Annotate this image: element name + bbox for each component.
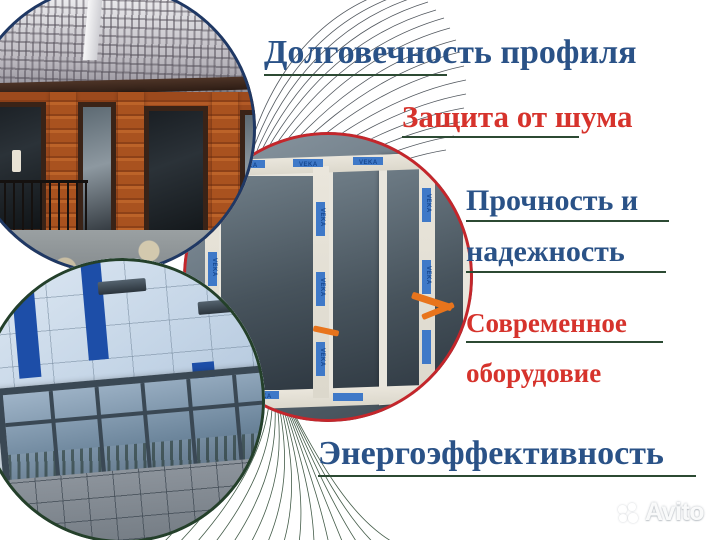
headline-underline [264, 74, 447, 76]
headline-strength: Прочность и [466, 186, 669, 222]
house-photo [0, 0, 256, 274]
facade-transom [5, 399, 265, 427]
headline-modern-equipment: Современное [466, 310, 663, 343]
house-window [240, 110, 256, 230]
veka-brand-label: VEKA [319, 208, 325, 227]
headline-underline [466, 341, 663, 343]
advertisement-poster: VEKA VEKA VEKA VEKA VEKA VEKA VEKA VEKA … [0, 0, 720, 540]
headline-underline [466, 220, 669, 222]
headline-reliability-text: надежность [466, 235, 625, 268]
headline-energy-efficiency-text: Энергоэффективность [318, 435, 664, 472]
veka-brand-label: VEKA [425, 266, 431, 285]
headline-underline [466, 271, 666, 273]
headline-durability-text: Долговечность профиля [264, 34, 637, 71]
headline-reliability: надежность [466, 237, 666, 273]
headline-energy-efficiency: Энергоэффективность [318, 437, 696, 477]
veka-brand-label: VEKA [319, 348, 325, 367]
headline-underline [318, 475, 696, 477]
veka-blue-tape [422, 330, 431, 364]
photo-circle-house [0, 0, 256, 274]
headline-modern-equipment-text: Современное [466, 308, 627, 338]
house-window [144, 106, 208, 246]
veka-blue-tape [333, 393, 363, 401]
avito-watermark: Avito [618, 498, 704, 527]
veka-brand-label: VEKA [319, 278, 325, 297]
headline-noise-protection: Защита от шума [402, 101, 633, 138]
photo-circle-facade [0, 258, 265, 540]
avito-wordmark: Avito [645, 498, 704, 527]
headline-modern-equipment-second: оборудовие [466, 360, 601, 387]
house-wall-lamp [12, 150, 21, 172]
veka-brand-label: VEKA [299, 162, 318, 168]
headline-durability: Долговечность профиля [264, 36, 637, 76]
headline-strength-text: Прочность и [466, 184, 638, 217]
avito-dots-icon [618, 503, 640, 523]
veka-brand-label: VEKA [359, 160, 378, 166]
headline-underline [402, 136, 579, 138]
facade-photo [0, 258, 265, 540]
headline-noise-protection-text: Защита от шума [402, 99, 633, 134]
veka-brand-label: VEKA [425, 194, 431, 213]
headline-modern-equipment-second-text: оборудовие [466, 358, 601, 388]
